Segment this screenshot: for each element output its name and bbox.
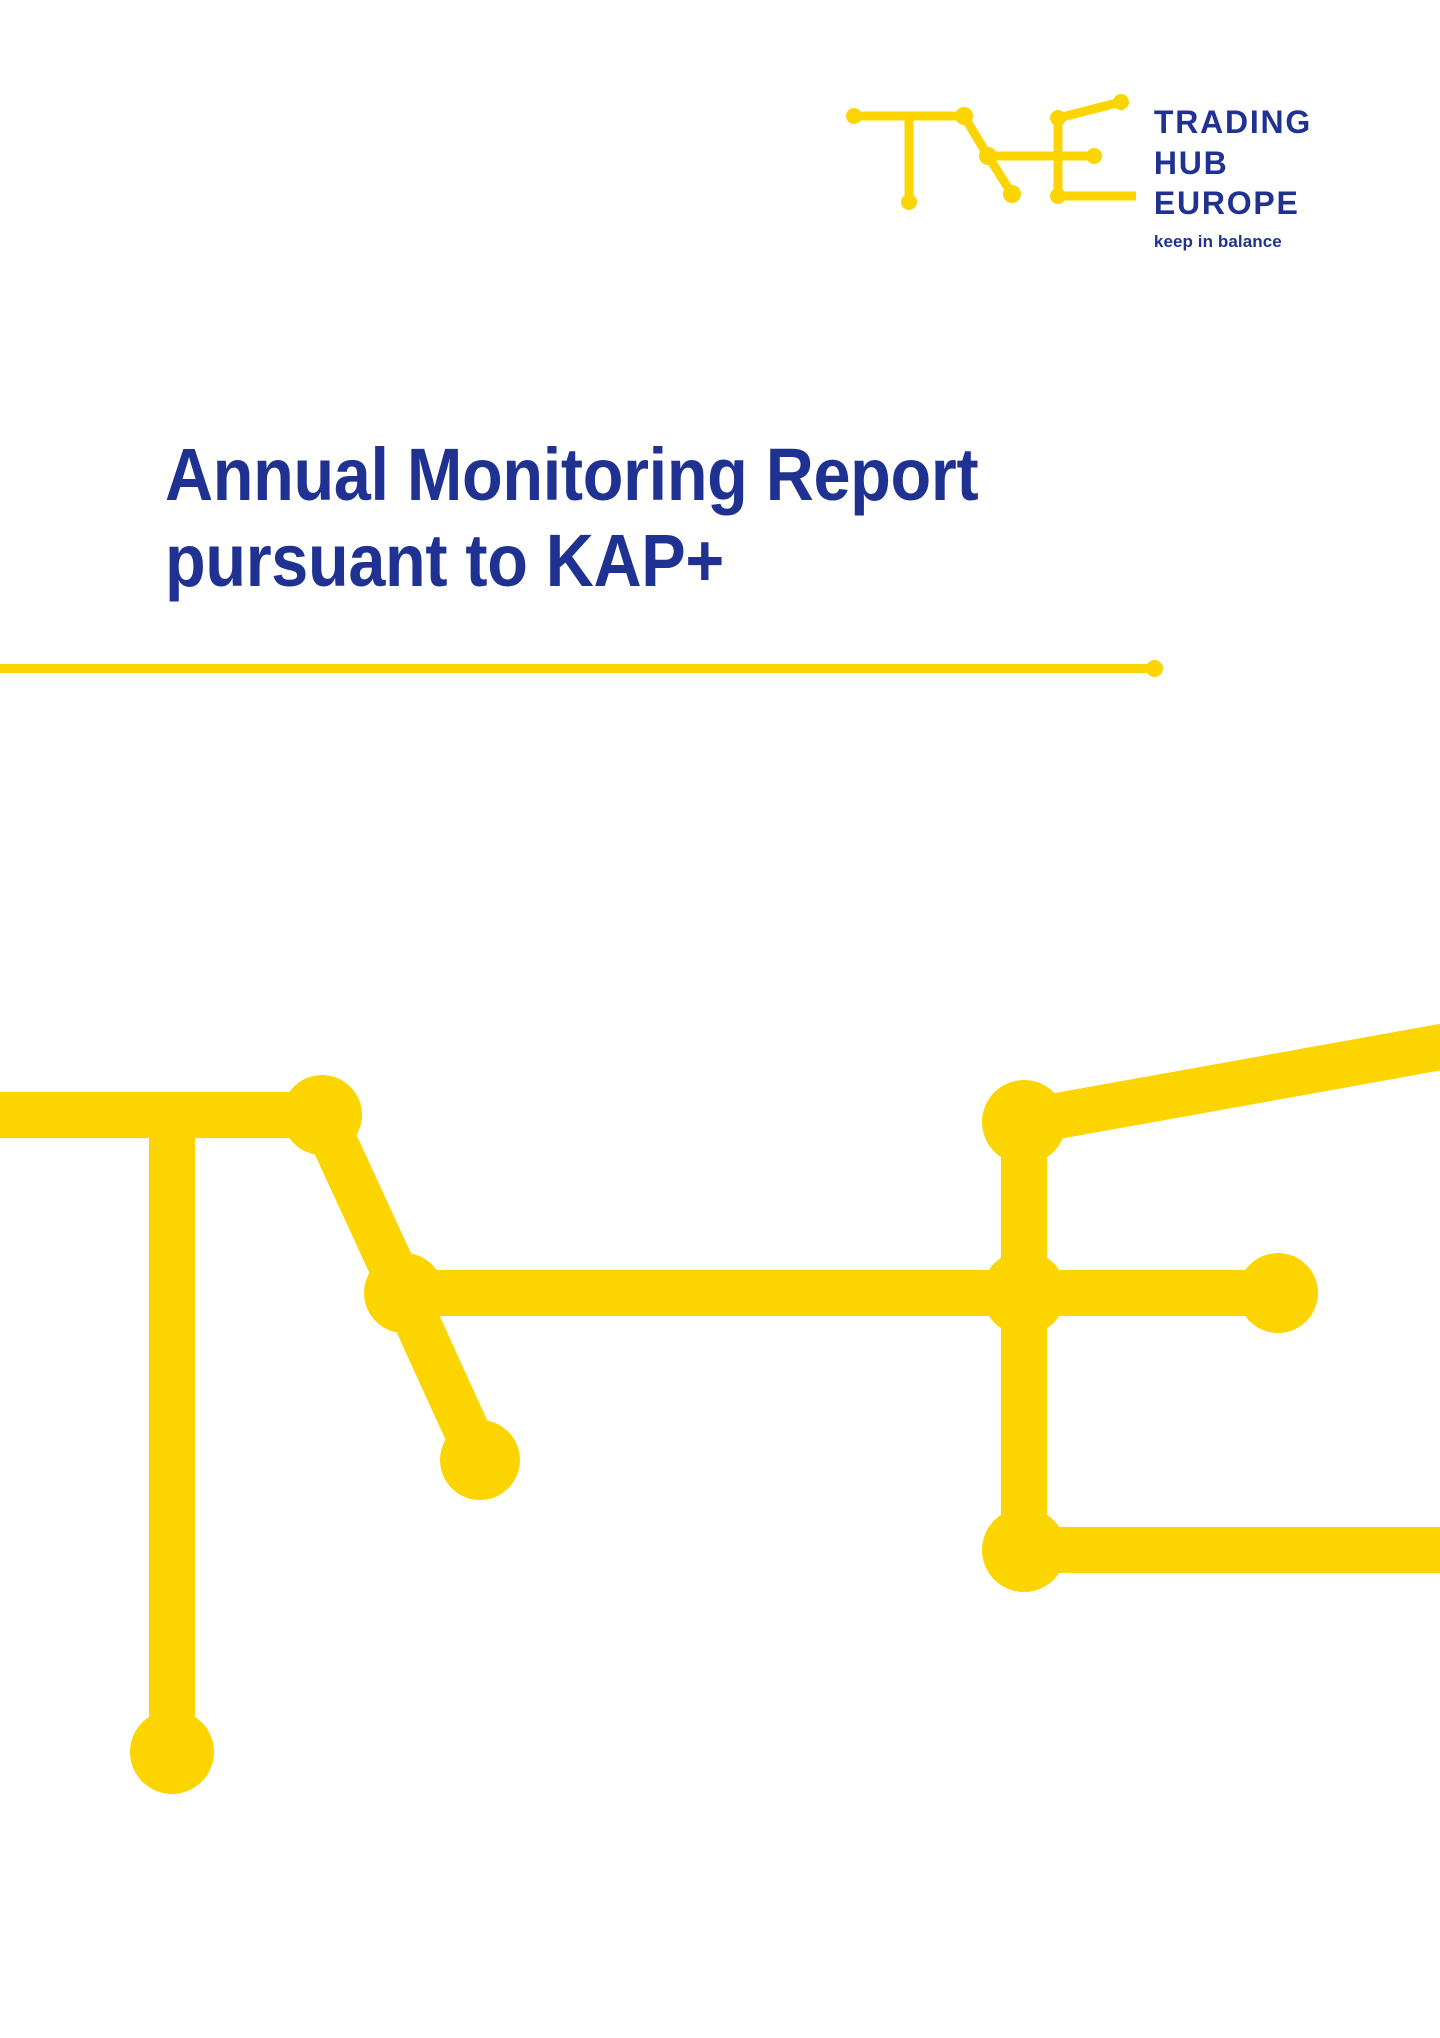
brand-logo: TRADING HUB EUROPE keep in balance [836,84,1312,252]
brand-tagline: keep in balance [1154,232,1312,252]
title-divider-bar [0,664,1160,673]
title-divider-end-dot [1146,660,1163,677]
document-cover-page: TRADING HUB EUROPE keep in balance Annua… [0,0,1440,2038]
title-divider-rule [0,660,1172,676]
page-title-line-2: pursuant to KAP+ [165,518,1173,604]
brand-wordmark: TRADING HUB EUROPE keep in balance [1154,84,1312,252]
page-title: Annual Monitoring Report pursuant to KAP… [165,432,1285,604]
brand-word-europe: EUROPE [1154,183,1312,224]
brand-word-trading: TRADING [1154,102,1312,143]
the-logo-watermark-icon [0,1010,1440,1830]
page-title-line-1: Annual Monitoring Report [165,432,1173,518]
the-logo-mark-icon [836,84,1136,219]
brand-word-hub: HUB [1154,143,1312,184]
